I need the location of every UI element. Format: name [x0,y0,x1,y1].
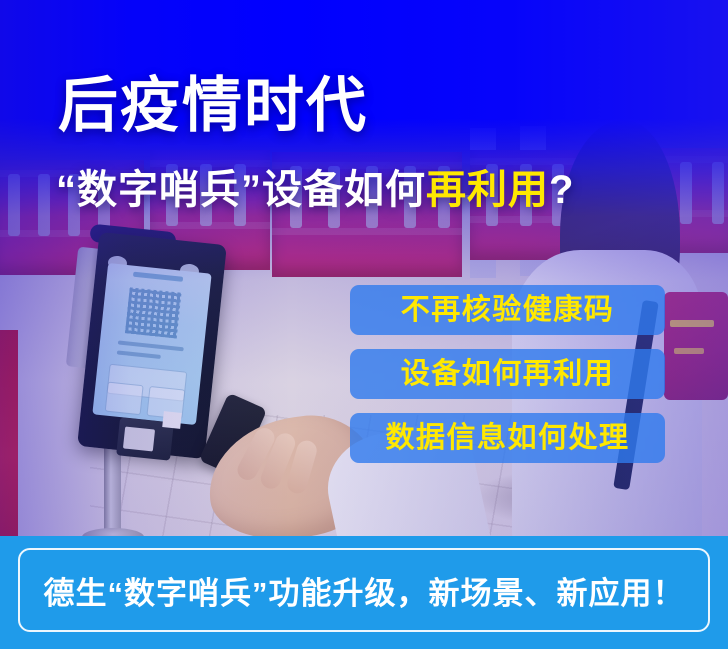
feature-pill-3[interactable]: 数据信息如何处理 [350,413,665,463]
feature-pill-2-label: 设备如何再利用 [401,360,615,389]
bottom-banner-frame: 德生“数字哨兵”功能升级，新场景、新应用！ [18,548,710,632]
page-title: 后疫情时代 [58,76,368,136]
subtitle-prefix: “数字哨兵”设备如何 [56,168,426,212]
subtitle-accent: 再利用 [426,168,549,212]
bottom-banner-text: 德生“数字哨兵”功能升级，新场景、新应用！ [44,568,685,613]
feature-pill-list: 不再核验健康码 设备如何再利用 数据信息如何处理 [350,285,665,463]
feature-pill-1-label: 不再核验健康码 [401,296,615,325]
feature-pill-3-label: 数据信息如何处理 [385,424,629,453]
feature-pill-2[interactable]: 设备如何再利用 [350,349,665,399]
poster-root: 后疫情时代 “数字哨兵”设备如何再利用? 不再核验健康码 设备如何再利用 数据信… [0,0,728,649]
page-subtitle: “数字哨兵”设备如何再利用? [56,170,574,210]
feature-pill-1[interactable]: 不再核验健康码 [350,285,665,335]
subtitle-suffix: ? [549,168,574,212]
bottom-banner: 德生“数字哨兵”功能升级，新场景、新应用！ [0,536,728,649]
